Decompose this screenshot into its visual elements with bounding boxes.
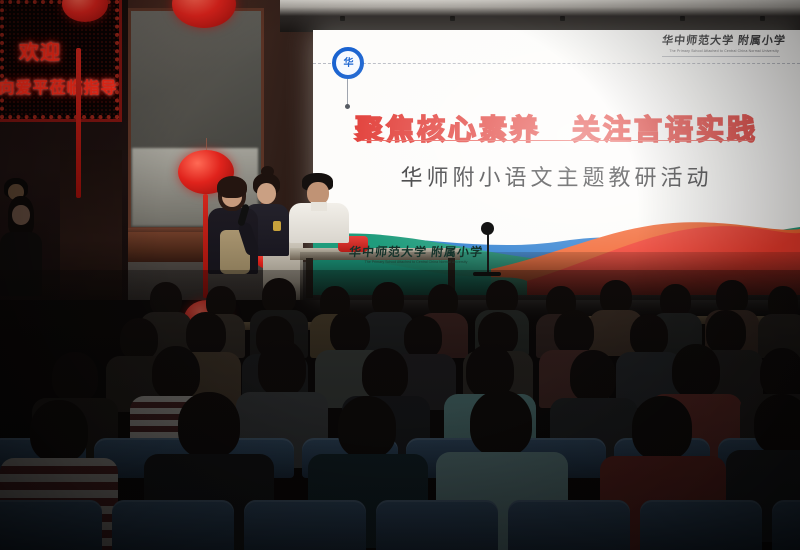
auditorium-seat[interactable] [244,500,366,550]
led-line-1: 欢迎 [0,36,122,65]
welcome-led-display: 欢迎 向爱平莅临指导 [0,0,122,122]
auditorium-seat[interactable] [0,500,102,550]
footer-logo-cn: 华中师范大学 附属小学 [348,246,483,258]
led-line-2: 向爱平莅临指导 [0,74,122,98]
bystander-torso [0,232,42,296]
school-logo-rule [662,56,780,57]
lantern-tassel [76,48,81,198]
shirt-collar [311,202,327,211]
school-logo-cn: 华中师范大学 附属小学 [662,36,787,47]
headline-underline [361,140,753,141]
auditorium-seat[interactable] [772,500,800,550]
auditorium-seat[interactable] [508,500,630,550]
footer-logo-en: The Primary School Attached to Central C… [349,261,483,265]
bystander-face [12,205,30,225]
school-badge-icon: 华 [332,47,364,79]
auditorium-seat[interactable] [112,500,234,550]
slide-divider [313,63,800,64]
presenter-hair-bun [261,166,274,177]
doorway [60,150,122,300]
microphone-head-icon [481,222,494,235]
school-logo-en: The Primary School Attached to Central C… [662,50,786,53]
badge-glyph: 华 [343,58,353,68]
slide-footer-logo: 华中师范大学 附属小学 The Primary School Attached … [349,246,483,265]
lecture-hall-photo: 欢迎 向爱平莅临指导 华 华中师范大学 附属小学 The Primary Sch… [0,0,800,550]
valance-fixtures [280,16,800,22]
presenter-badge [273,221,281,231]
slide-subtitle: 华师附小语文主题教研活动 [313,160,800,192]
presenter-face [257,183,276,204]
speaker-hair [217,176,247,198]
auditorium-seat[interactable] [640,500,762,550]
slide-headline: 聚焦核心素养 关注言语实践 [313,108,800,148]
slide-school-logo: 华中师范大学 附属小学 The Primary School Attached … [662,36,786,57]
badge-pointer-line [347,79,348,105]
auditorium-seat[interactable] [376,500,498,550]
seat-row [0,500,800,550]
